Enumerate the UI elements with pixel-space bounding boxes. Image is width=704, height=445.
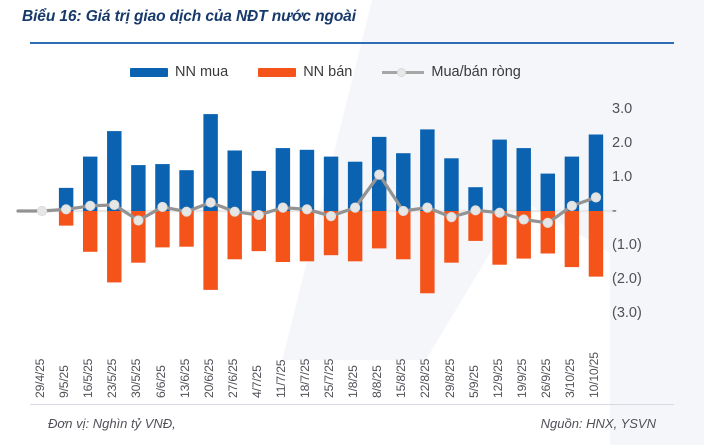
y-axis-tick: 1.0 bbox=[612, 169, 632, 185]
bar-sell[interactable] bbox=[420, 211, 434, 293]
x-axis-tick: 18/7/25 bbox=[298, 359, 312, 398]
net-marker[interactable] bbox=[471, 206, 480, 215]
title-divider bbox=[30, 42, 674, 44]
legend-label-net: Mua/bán ròng bbox=[431, 64, 520, 80]
net-marker[interactable] bbox=[278, 203, 287, 212]
bar-sell[interactable] bbox=[227, 211, 241, 259]
x-axis-tick: 5/9/25 bbox=[467, 365, 481, 398]
bar-buy[interactable] bbox=[492, 140, 506, 211]
net-marker[interactable] bbox=[134, 216, 143, 225]
y-axis-labels: 3.02.01.0-(1.0)(2.0)(3.0) bbox=[612, 95, 682, 320]
legend-swatch-net bbox=[382, 68, 424, 77]
bar-buy[interactable] bbox=[444, 158, 458, 211]
x-axis-tick: 11/7/25 bbox=[274, 360, 288, 398]
net-marker[interactable] bbox=[326, 212, 335, 221]
x-axis-tick: 8/8/25 bbox=[370, 365, 384, 398]
y-axis-tick: (1.0) bbox=[612, 237, 642, 253]
x-axis-tick: 15/8/25 bbox=[394, 359, 408, 398]
net-marker[interactable] bbox=[158, 202, 167, 211]
net-marker[interactable] bbox=[37, 206, 46, 215]
x-axis-tick: 1/8/25 bbox=[346, 365, 360, 398]
x-axis-tick: 29/4/25 bbox=[33, 359, 47, 398]
legend-item-net[interactable]: Mua/bán ròng bbox=[382, 64, 520, 80]
x-axis-tick: 10/10/25 bbox=[587, 352, 601, 398]
bar-sell[interactable] bbox=[589, 211, 603, 277]
net-marker[interactable] bbox=[591, 193, 600, 202]
bar-sell[interactable] bbox=[276, 211, 290, 262]
net-marker[interactable] bbox=[447, 213, 456, 222]
source-note: Nguồn: HNX, YSVN bbox=[541, 416, 656, 431]
bar-sell[interactable] bbox=[83, 211, 97, 252]
net-marker[interactable] bbox=[230, 207, 239, 216]
bar-sell[interactable] bbox=[565, 211, 579, 267]
bar-sell[interactable] bbox=[492, 211, 506, 265]
bar-buy[interactable] bbox=[516, 148, 530, 211]
net-marker[interactable] bbox=[110, 200, 119, 209]
legend-item-buy[interactable]: NN mua bbox=[130, 64, 228, 80]
x-axis-tick: 16/5/25 bbox=[81, 359, 95, 398]
x-axis-tick: 29/8/25 bbox=[443, 359, 457, 398]
bar-buy[interactable] bbox=[541, 174, 555, 211]
chart-plot-area bbox=[0, 95, 704, 320]
bar-sell[interactable] bbox=[396, 211, 410, 259]
unit-note: Đơn vị: Nghìn tỷ VNĐ, bbox=[48, 416, 176, 431]
net-marker[interactable] bbox=[206, 198, 215, 207]
net-marker[interactable] bbox=[567, 201, 576, 210]
net-marker[interactable] bbox=[62, 205, 71, 214]
x-axis-tick: 23/5/25 bbox=[105, 359, 119, 398]
bar-buy[interactable] bbox=[179, 170, 193, 211]
bar-buy[interactable] bbox=[300, 150, 314, 211]
x-axis-tick: 19/9/25 bbox=[515, 359, 529, 398]
legend-item-sell[interactable]: NN bán bbox=[258, 64, 352, 80]
y-axis-tick: - bbox=[612, 203, 617, 219]
net-marker[interactable] bbox=[182, 207, 191, 216]
bars-group bbox=[59, 114, 603, 293]
net-marker[interactable] bbox=[86, 201, 95, 210]
bar-buy[interactable] bbox=[324, 157, 338, 211]
bar-buy[interactable] bbox=[227, 150, 241, 211]
x-axis-tick: 6/6/25 bbox=[154, 365, 168, 398]
bar-buy[interactable] bbox=[107, 131, 121, 211]
net-marker[interactable] bbox=[519, 215, 528, 224]
x-axis-tick: 3/10/25 bbox=[563, 359, 577, 398]
net-marker[interactable] bbox=[543, 218, 552, 227]
x-axis-labels: 29/4/259/5/2516/5/2523/5/2530/5/256/6/25… bbox=[0, 318, 704, 398]
bar-sell[interactable] bbox=[372, 211, 386, 248]
bar-buy[interactable] bbox=[420, 129, 434, 211]
bar-buy[interactable] bbox=[276, 148, 290, 211]
y-axis-tick: (2.0) bbox=[612, 271, 642, 287]
x-axis-tick: 27/6/25 bbox=[226, 359, 240, 398]
net-marker[interactable] bbox=[351, 203, 360, 212]
legend-label-sell: NN bán bbox=[303, 64, 352, 80]
chart-title: Biểu 16: Giá trị giao dịch của NĐT nước … bbox=[22, 8, 356, 26]
footer-divider bbox=[30, 404, 674, 405]
bar-sell[interactable] bbox=[300, 211, 314, 261]
y-axis-tick: 3.0 bbox=[612, 101, 632, 117]
x-axis-tick: 30/5/25 bbox=[129, 359, 143, 398]
y-axis-tick: 2.0 bbox=[612, 135, 632, 151]
bar-buy[interactable] bbox=[203, 114, 217, 211]
x-axis-tick: 26/9/25 bbox=[539, 359, 553, 398]
bar-sell[interactable] bbox=[348, 211, 362, 261]
net-marker[interactable] bbox=[254, 210, 263, 219]
legend-label-buy: NN mua bbox=[175, 64, 228, 80]
x-axis-tick: 4/7/25 bbox=[250, 365, 264, 398]
net-marker[interactable] bbox=[423, 203, 432, 212]
legend-swatch-sell bbox=[258, 68, 296, 77]
legend-swatch-buy bbox=[130, 68, 168, 77]
bar-sell[interactable] bbox=[155, 211, 169, 247]
x-axis-tick: 12/9/25 bbox=[491, 359, 505, 398]
bar-sell[interactable] bbox=[468, 211, 482, 241]
x-axis-tick: 13/6/25 bbox=[178, 359, 192, 398]
net-line[interactable] bbox=[42, 175, 596, 223]
bar-sell[interactable] bbox=[203, 211, 217, 290]
net-marker[interactable] bbox=[495, 208, 504, 217]
net-marker[interactable] bbox=[399, 206, 408, 215]
x-axis-tick: 22/8/25 bbox=[418, 359, 432, 398]
net-marker[interactable] bbox=[302, 205, 311, 214]
x-axis-tick: 9/5/25 bbox=[57, 365, 71, 398]
bar-buy[interactable] bbox=[252, 171, 266, 211]
x-axis-tick: 20/6/25 bbox=[202, 359, 216, 398]
chart-legend: NN mua NN bán Mua/bán ròng bbox=[130, 62, 521, 82]
bar-sell[interactable] bbox=[107, 211, 121, 282]
bar-buy[interactable] bbox=[131, 165, 145, 211]
x-axis-tick: 25/7/25 bbox=[322, 359, 336, 398]
chart-svg bbox=[0, 95, 704, 320]
net-marker[interactable] bbox=[375, 170, 384, 179]
chart-card: Biểu 16: Giá trị giao dịch của NĐT nước … bbox=[0, 0, 704, 445]
